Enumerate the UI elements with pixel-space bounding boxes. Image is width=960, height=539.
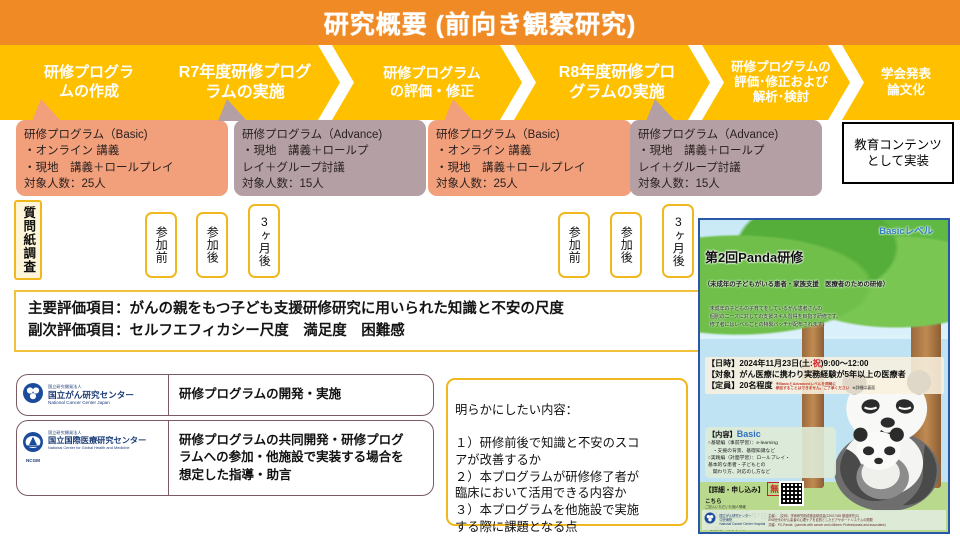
phase-chevron-4-label: R8年度研修プロ グラムの実施: [528, 63, 706, 102]
timepoint-label: 3ヶ月後: [672, 215, 685, 267]
phase-chevron-1-label: 研修プログラ ムの作成: [14, 64, 164, 101]
callout-tail-2: [218, 99, 247, 121]
flyer-content-item-1: ○基礎編（事前学習）：e-learning ・支援の背景、基礎知識など: [708, 440, 833, 454]
org-row-ncc: 国立研究開発法人 国立がん研究センター National Cancer Cent…: [16, 374, 434, 416]
flyer-contact-header: 【問い合わせ先】: [705, 531, 757, 532]
flyer-content-panel: 【内容】Basic ○基礎編（事前学習）：e-learning ・支援の背景、基…: [705, 427, 836, 478]
timepoint-box-3m-1: 3ヶ月後: [248, 204, 280, 278]
flyer-level-badge: Basicレベル: [879, 223, 933, 237]
ncc-logo-line3: National Cancer Center Japan: [48, 400, 134, 405]
ncgm-abbr: NCGM: [22, 458, 44, 463]
flyer-content-label: 【内容】: [708, 430, 737, 439]
callout-tail-4: [646, 99, 675, 121]
ncgm-logo-text: 国立研究開発法人 国立国際医療研究センター National Center fo…: [48, 431, 146, 450]
flyer-title: 第2回Panda研修: [705, 247, 803, 266]
ncgm-logo-cell: NCGM 国立研究開発法人 国立国際医療研究センター National Cent…: [17, 421, 169, 495]
ncc-logo-cell: 国立研究開発法人 国立がん研究センター National Cancer Cent…: [17, 375, 169, 415]
timepoint-label: 3ヶ月後: [258, 215, 271, 267]
program-callout-3: 研修プログラム（Basic) ・オンライン 講義 ・現地 講義＋ロールプレイ 対…: [428, 120, 632, 196]
flyer-holiday-mark: 祝: [813, 359, 821, 368]
timepoint-box-pre-2: 参加前: [558, 212, 590, 278]
panda-illustration: [812, 320, 948, 513]
timepoint-box-post-2: 参加後: [610, 212, 642, 278]
timepoint-label: 参加後: [620, 226, 633, 264]
phase-chevron-3-label: 研修プログラム の評価・修正: [346, 65, 518, 99]
flyer-datetime-label: 【日時】: [707, 359, 739, 368]
questionnaire-label-box: 質問紙調査: [14, 200, 42, 280]
questionnaire-label: 質問紙調査: [22, 206, 35, 274]
flyer-subtitle: （未成年の子どもがいる患者・家族支援 医療者のための研修）: [704, 279, 889, 288]
program-callout-1: 研修プログラム（Basic) ・オンライン 講義 ・現地 講義＋ロールプレイ 対…: [16, 120, 228, 196]
ncgm-logo-icon: NCGM: [22, 431, 44, 463]
flyer-contact-block: 【問い合わせ先】 PC-Panda@ncc.go.jp: [705, 531, 757, 532]
phase-chevron-6[interactable]: 学会発表 論文化: [842, 45, 960, 120]
flyer-datetime-row: 【日時】2024年11月23日(土:祝)9:00～12:00: [707, 359, 942, 370]
ncgm-role: 研修プログラムの共同開発・研修プログ ラムへの参加・他施設で実装する場合を 想定…: [169, 432, 410, 484]
flyer-content-level: Basic: [737, 429, 761, 439]
program-callout-4: 研修プログラム（Advance) ・現地 講義＋ロールプ レイ＋グループ討議 対…: [630, 120, 822, 196]
phase-chevron-5[interactable]: 研修プログラムの 評価･修正および 解析･検討: [702, 45, 850, 120]
flyer-footer: 国立がん研究センター 中央病院 National Cancer Center H…: [702, 510, 945, 530]
page-title-bar: 研究概要 (前向き観察研究): [0, 0, 960, 45]
flyer-datetime-tail: )9:00～12:00: [821, 359, 869, 368]
timepoint-box-post-1: 参加後: [196, 212, 228, 278]
phase-chevron-5-label: 研修プログラムの 評価･修正および 解析･検討: [716, 60, 846, 106]
ncc-logo-icon: [22, 382, 44, 409]
qr-code-icon[interactable]: [779, 481, 804, 506]
flyer-datetime-value: 2024年11月23日(土:: [739, 359, 812, 368]
flyer-apply-header: 【詳細・申し込み】: [705, 487, 764, 494]
timepoint-box-3m-2: 3ヶ月後: [662, 204, 694, 278]
callout-tail-3: [444, 99, 473, 121]
phase-chevron-4[interactable]: R8年度研修プロ グラムの実施: [514, 45, 710, 120]
flyer-capacity-note: ※BasicとAdvancedレベルを同時に 参加することはできません。ご了承く…: [776, 382, 850, 392]
ncc-logo-line2: 国立がん研究センター: [48, 390, 134, 400]
timepoint-box-pre-1: 参加前: [145, 212, 177, 278]
callout-tail-1: [32, 99, 61, 121]
flyer-footer-logo-icon: [704, 511, 716, 529]
phase-chevron-6-label: 学会発表 論文化: [856, 67, 956, 98]
flyer-lead-text: 未成年の子どもの子育てをしているがん患者さんの 個別のニーズに対しての支援スキル…: [710, 306, 841, 330]
aims-heading: 明らかにしたい内容：: [455, 402, 680, 419]
phase-chevron-2-label: R7年度研修プログ ラムの実施: [154, 63, 336, 102]
org-row-ncgm: NCGM 国立研究開発法人 国立国際医療研究センター National Cent…: [16, 420, 434, 496]
phase-chevron-3[interactable]: 研修プログラム の評価・修正: [332, 45, 522, 120]
flyer-target-row: 【対象】がん医療に携わり実務経験が5年以上の医療者: [707, 370, 942, 381]
training-flyer[interactable]: Basicレベル 第2回Panda研修 （未成年の子どもがいる患者・家族支援 医…: [698, 218, 950, 534]
flyer-capacity-row: 【定員】20名程度: [707, 381, 773, 392]
research-overview-slide: 研究概要 (前向き観察研究) 研修プログラ ムの作成 R7年度研修プログ ラムの…: [0, 0, 960, 539]
implementation-box: 教育コンテンツ として実装: [842, 122, 954, 184]
flyer-footer-right: 主催：（文科）学術研究助成基金助成金(22K07435 基盤研究(C) AYA世…: [768, 514, 888, 526]
page-title: 研究概要 (前向き観察研究): [324, 5, 637, 41]
timepoint-label: 参加後: [206, 226, 219, 264]
ncc-logo-text: 国立研究開発法人 国立がん研究センター National Cancer Cent…: [48, 385, 134, 406]
phase-timeline: 研修プログラ ムの作成 R7年度研修プログ ラムの実施 研修プログラム の評価・…: [0, 45, 960, 120]
ncc-role: 研修プログラムの開発・実施: [169, 386, 347, 403]
flyer-content-heading: 【内容】Basic: [708, 429, 833, 440]
ncgm-logo-line3: National Center for Global Health and Me…: [48, 446, 146, 451]
flyer-info-panel: 【日時】2024年11月23日(土:祝)9:00～12:00 【対象】がん医療に…: [705, 357, 944, 394]
flyer-capacity-note2: ※詳細は裏面: [852, 385, 875, 391]
flyer-canvas: Basicレベル 第2回Panda研修 （未成年の子どもがいる患者・家族支援 医…: [700, 220, 948, 532]
flyer-content-item-2: ○実践編（対面学習）：ロールプレイ・ 基本的な患者・子どもとの 関わり方、対応の…: [708, 455, 833, 477]
timepoint-label: 参加前: [568, 226, 581, 264]
research-aims-box: 明らかにしたい内容： １）研修前後で知識と不安のスコ アが改善するか ２）本プロ…: [446, 378, 688, 526]
program-callout-2: 研修プログラム（Advance) ・現地 講義＋ロールプ レイ＋グループ討議 対…: [234, 120, 426, 196]
flyer-footer-left: 国立がん研究センター 中央病院 National Cancer Center H…: [719, 514, 765, 526]
timepoint-label: 参加前: [155, 226, 168, 264]
phase-chevron-1[interactable]: 研修プログラ ムの作成: [0, 45, 168, 120]
aims-items: １）研修前後で知識と不安のスコ アが改善するか ２）本プログラムが研修修了者が …: [455, 435, 680, 535]
